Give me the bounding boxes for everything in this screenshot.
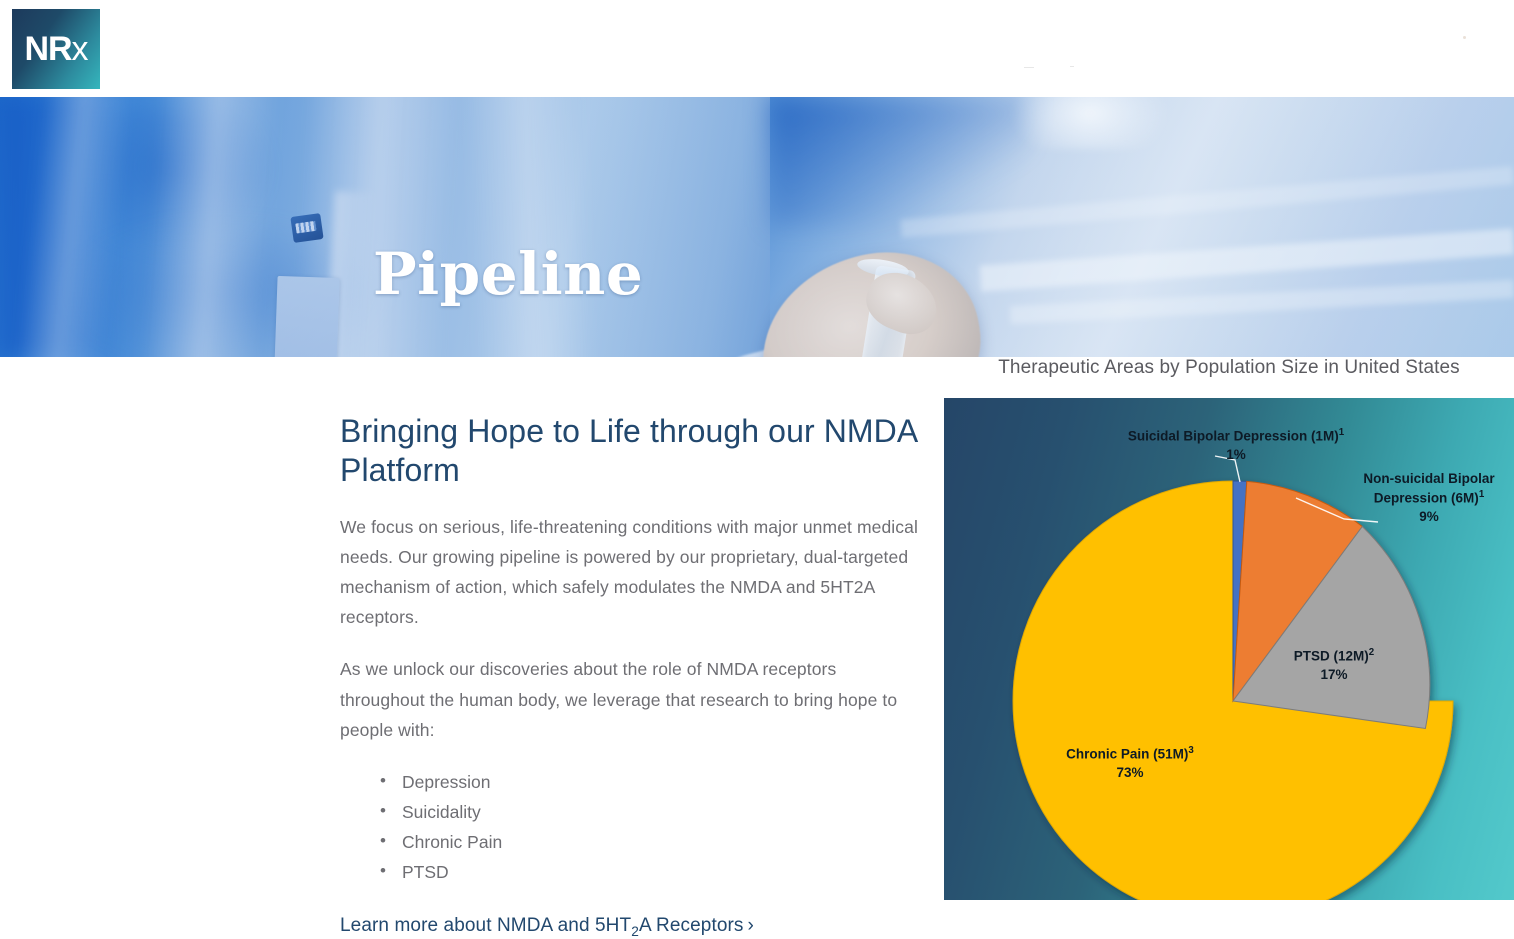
main-content: Bringing Hope to Life through our NMDA P… [0,357,1514,900]
pie-label-ptsd-name: PTSD (12M) [1294,649,1369,664]
pie-label-ptsd-pct: 17% [1320,667,1347,682]
intro-paragraph-1: We focus on serious, life-threatening co… [340,512,920,632]
list-item: Depression [402,767,920,797]
pie-label-suicidal-name: Suicidal Bipolar Depression (1M) [1128,429,1339,444]
pie-slices [1013,481,1453,900]
chevron-right-icon: › [748,915,754,936]
chart-title: Therapeutic Areas by Population Size in … [944,357,1514,379]
pie-label-nonsuicidal-pct: 9% [1419,509,1439,524]
pie-label-suicidal-bipolar: Suicidal Bipolar Depression (1M)1 1% [1096,426,1376,464]
site-header: NRx [0,0,1514,97]
content-left-column: Bringing Hope to Life through our NMDA P… [340,412,920,939]
pie-label-nonsuicidal-footnote: 1 [1479,489,1484,500]
pie-label-chronic-footnote: 3 [1188,745,1193,756]
list-item: PTSD [402,857,920,887]
pie-label-suicidal-footnote: 1 [1339,427,1344,438]
learn-more-text-after: A Receptors [639,915,744,936]
logo-text: NRx [24,32,87,66]
learn-more-text-before: Learn more about NMDA and 5HT [340,915,631,936]
pie-label-ptsd-footnote: 2 [1369,647,1374,658]
conditions-list: Depression Suicidality Chronic Pain PTSD [340,767,920,887]
pie-label-chronic-pain: Chronic Pain (51M)3 73% [1010,744,1250,782]
pie-label-chronic-name: Chronic Pain (51M) [1066,747,1188,762]
header-artifact-line-small [1070,66,1074,67]
pie-label-nonsuicidal-name-2: Depression (6M) [1374,491,1479,506]
header-artifact-line [1024,67,1034,68]
header-artifact-dot [1463,36,1466,39]
learn-more-link[interactable]: Learn more about NMDA and 5HT2A Receptor… [340,915,754,939]
hero-blue-tint-overlay [0,97,1514,357]
learn-more-subscript: 2 [631,924,639,939]
chart-panel: Suicidal Bipolar Depression (1M)1 1% Non… [944,398,1514,900]
list-item: Suicidality [402,797,920,827]
hero-photo [0,97,1514,357]
header-nav-area [874,0,1514,97]
therapeutic-areas-chart: Therapeutic Areas by Population Size in … [944,398,1514,900]
page-title: Pipeline [373,243,643,307]
pie-label-nonsuicidal-bipolar: Non-suicidal Bipolar Depression (6M)1 9% [1344,470,1514,526]
section-heading: Bringing Hope to Life through our NMDA P… [340,412,920,490]
intro-paragraph-2: As we unlock our discoveries about the r… [340,654,920,744]
nrx-logo[interactable]: NRx [12,9,100,89]
pie-label-suicidal-pct: 1% [1226,447,1246,462]
pie-label-nonsuicidal-name-1: Non-suicidal Bipolar [1363,471,1494,486]
pie-label-chronic-pct: 73% [1116,765,1143,780]
pie-label-ptsd: PTSD (12M)2 17% [1244,646,1424,684]
hero-banner: Pipeline [0,97,1514,357]
list-item: Chronic Pain [402,827,920,857]
